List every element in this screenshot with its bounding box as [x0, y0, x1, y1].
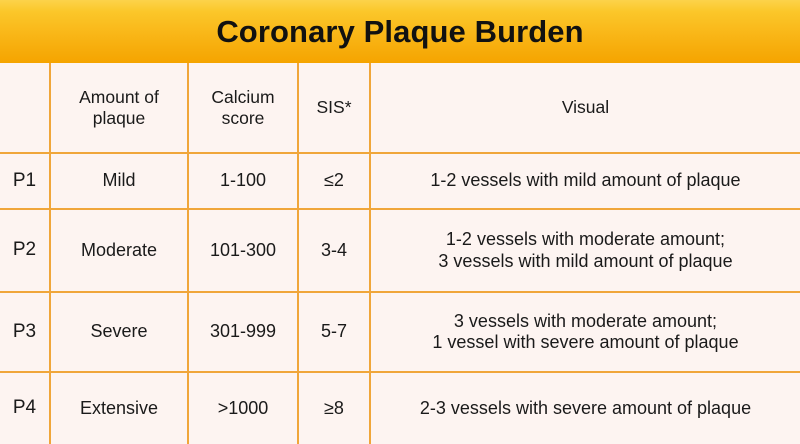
row-sis: ≥8: [298, 372, 370, 444]
row-calcium-score: 1-100: [188, 153, 298, 209]
column-header-visual: Visual: [370, 63, 800, 153]
row-visual-line: 3 vessels with mild amount of plaque: [377, 251, 794, 272]
row-code: P2: [0, 209, 50, 292]
table-row: P2 Moderate 101-300 3-4 1-2 vessels with…: [0, 209, 800, 292]
plaque-burden-table: Amount of plaque Calcium score SIS* Visu…: [0, 63, 800, 444]
table-row: P4 Extensive >1000 ≥8 2-3 vessels with s…: [0, 372, 800, 444]
row-visual: 1-2 vessels with moderate amount; 3 vess…: [370, 209, 800, 292]
column-header-amount-line2: plaque: [93, 108, 146, 128]
row-amount: Severe: [50, 292, 188, 372]
column-header-score-line2: score: [222, 108, 265, 128]
row-visual-line: 1 vessel with severe amount of plaque: [377, 332, 794, 353]
row-amount: Moderate: [50, 209, 188, 292]
page-title: Coronary Plaque Burden: [216, 16, 583, 47]
row-visual-line: 2-3 vessels with severe amount of plaque: [377, 398, 794, 419]
column-header-amount-line1: Amount of: [79, 87, 159, 107]
row-code: P3: [0, 292, 50, 372]
column-header-amount: Amount of plaque: [50, 63, 188, 153]
row-visual-line: 3 vessels with moderate amount;: [377, 311, 794, 332]
table-row: P1 Mild 1-100 ≤2 1-2 vessels with mild a…: [0, 153, 800, 209]
column-header-sis: SIS*: [298, 63, 370, 153]
row-sis: 5-7: [298, 292, 370, 372]
row-calcium-score: 101-300: [188, 209, 298, 292]
row-visual: 3 vessels with moderate amount; 1 vessel…: [370, 292, 800, 372]
row-amount: Extensive: [50, 372, 188, 444]
row-visual-line: 1-2 vessels with moderate amount;: [377, 229, 794, 250]
row-visual-line: 1-2 vessels with mild amount of plaque: [377, 170, 794, 191]
table-header-row: Amount of plaque Calcium score SIS* Visu…: [0, 63, 800, 153]
row-calcium-score: >1000: [188, 372, 298, 444]
row-sis: 3-4: [298, 209, 370, 292]
column-header-code: [0, 63, 50, 153]
column-header-score-line1: Calcium: [211, 87, 274, 107]
row-code: P1: [0, 153, 50, 209]
row-code: P4: [0, 372, 50, 444]
column-header-calcium-score: Calcium score: [188, 63, 298, 153]
plaque-burden-figure: Coronary Plaque Burden Amount of plaque …: [0, 0, 800, 444]
row-visual: 1-2 vessels with mild amount of plaque: [370, 153, 800, 209]
row-calcium-score: 301-999: [188, 292, 298, 372]
title-bar: Coronary Plaque Burden: [0, 0, 800, 63]
row-sis: ≤2: [298, 153, 370, 209]
table-row: P3 Severe 301-999 5-7 3 vessels with mod…: [0, 292, 800, 372]
row-visual: 2-3 vessels with severe amount of plaque: [370, 372, 800, 444]
row-amount: Mild: [50, 153, 188, 209]
